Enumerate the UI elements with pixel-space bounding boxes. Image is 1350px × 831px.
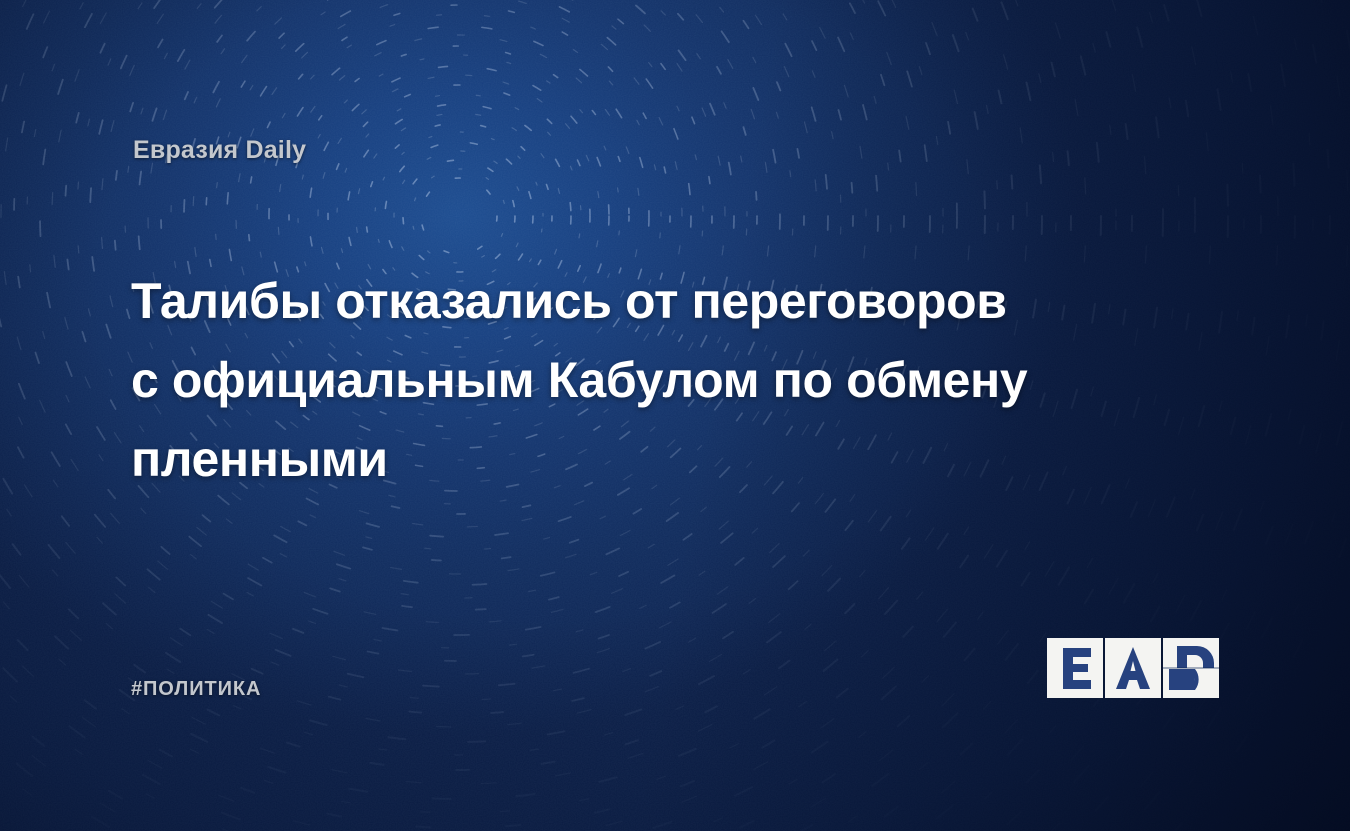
logo-d-split-line: [1163, 667, 1219, 669]
headline: Талибы отказались от переговоров с офици…: [131, 262, 1126, 499]
logo-letter-a-icon: [1105, 638, 1161, 698]
news-card: Евразия Daily Талибы отказались от перег…: [0, 0, 1350, 831]
rubric-tag[interactable]: #ПОЛИТИКА: [131, 678, 261, 701]
headline-line: с официальным Кабулом по обмену: [131, 341, 1126, 420]
publication-name: Евразия Daily: [133, 136, 306, 165]
logo-letter-e-icon: [1047, 638, 1103, 698]
headline-line: Талибы отказались от переговоров: [131, 262, 1126, 341]
card-content: Евразия Daily Талибы отказались от перег…: [0, 0, 1350, 831]
ead-logo: [1047, 638, 1221, 698]
headline-line: пленными: [131, 420, 1126, 499]
